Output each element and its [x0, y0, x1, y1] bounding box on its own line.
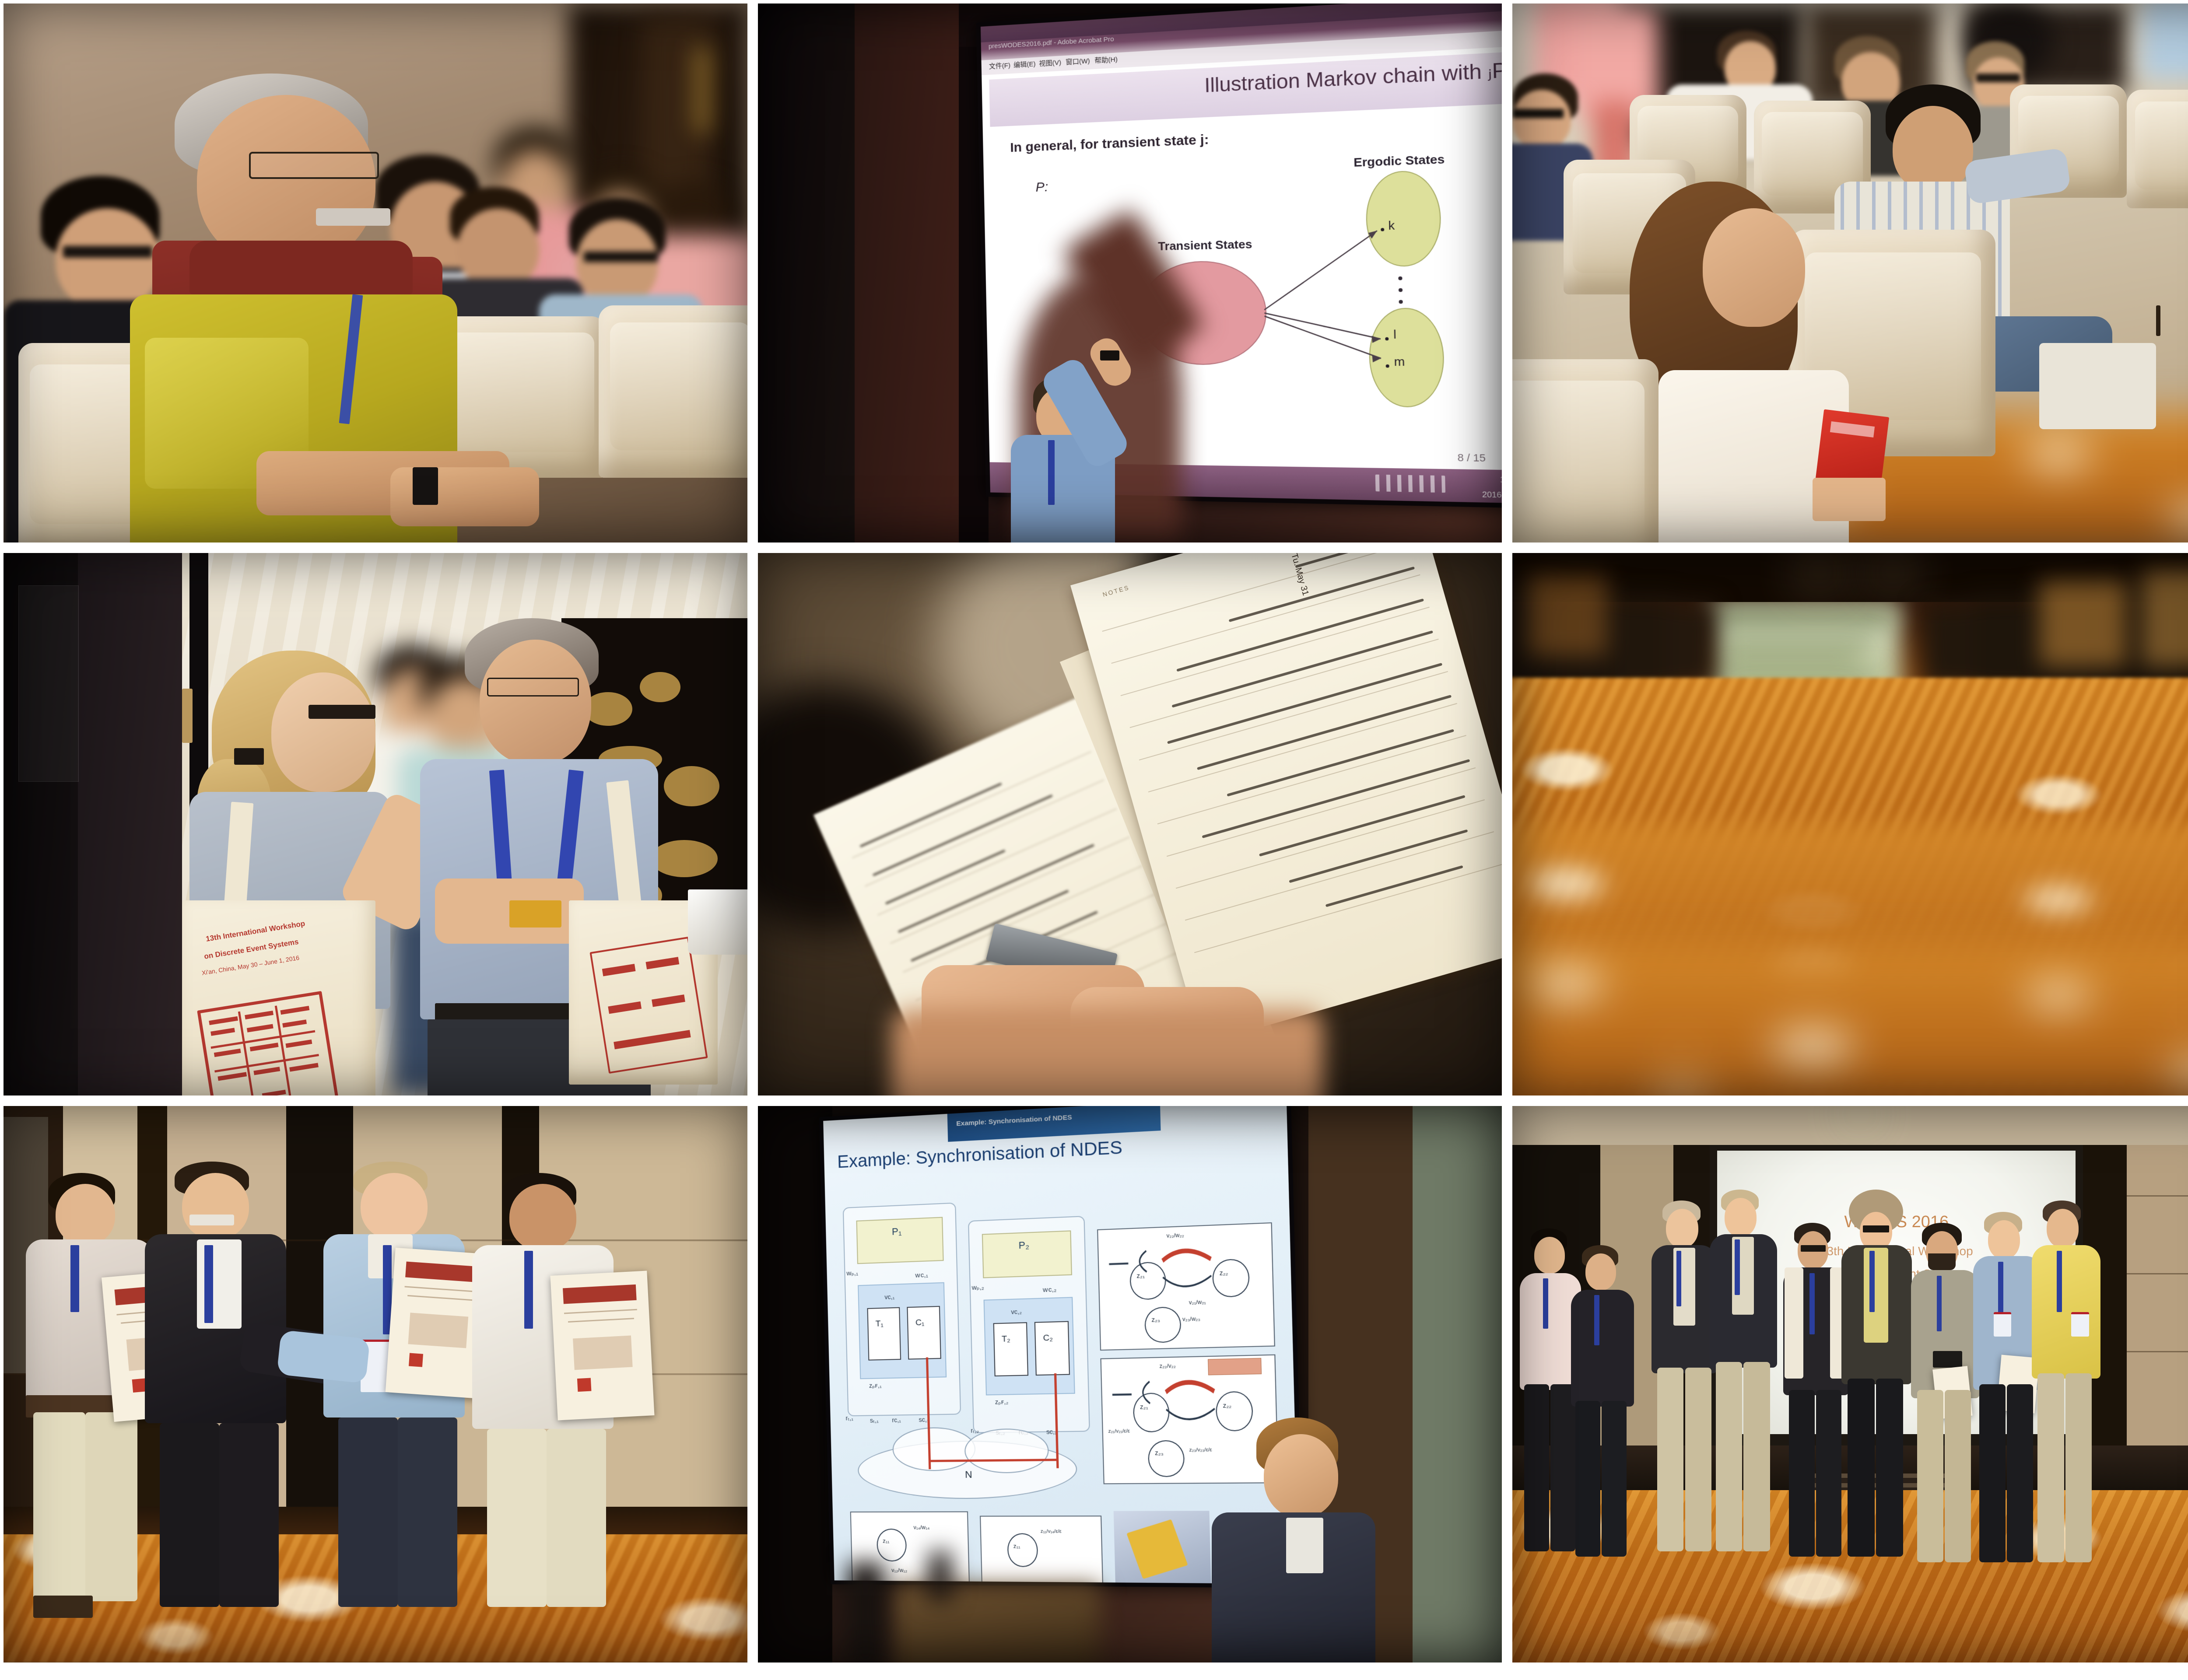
photo-panel-middle-center[interactable]: NOTES	[758, 553, 1502, 1095]
tote-seal-logo	[197, 991, 339, 1095]
block-t2-label: T₂	[1002, 1334, 1010, 1344]
taskbar-time: 16:05	[1500, 475, 1502, 485]
presentation-photo: presWODES2016.pdf - Adobe Acrobat Pro 文件…	[758, 3, 1502, 542]
signal-zpf1: zₚꜰ,₁	[869, 1382, 882, 1390]
signal-zpf2: zₚꜰ,₂	[995, 1398, 1009, 1406]
signal-wp1: wₚ,₁	[846, 1269, 858, 1277]
seated-attendees-photo	[1512, 3, 2188, 542]
signal-st1: sₜ,₁	[870, 1417, 879, 1424]
block-p2	[982, 1231, 1072, 1278]
tray-icons	[1375, 475, 1445, 493]
award-ceremony-photo	[4, 1106, 747, 1662]
conference-tote-bag: 13th International Workshop on Discrete …	[182, 900, 375, 1095]
paper-cup	[688, 889, 747, 955]
block-p1-label: P₁	[892, 1226, 902, 1238]
podium	[892, 1585, 1100, 1662]
photo-panel-bottom-right[interactable]: WODES 2016 13th International Workshop o…	[1512, 1106, 2188, 1662]
trans-label-c1: v₁₄/w₁₄	[913, 1524, 929, 1530]
audience-photo	[4, 3, 747, 542]
block-c2-label: C₂	[1043, 1333, 1053, 1344]
automaton-box-1: z₂₁ z₂₂ z₂₃ v₂₂/w₂₂ v₂₁/w₂₁	[1097, 1223, 1275, 1351]
signal-wc2: w с,₂	[1043, 1286, 1057, 1294]
block-p2-label: P₂	[1018, 1239, 1029, 1252]
pdf-page-indicator: 8 / 15	[1457, 452, 1486, 465]
trans-label-c2: v₁₂/w₁₂	[891, 1568, 907, 1574]
signal-rc1: rс,₁	[892, 1416, 901, 1423]
acrobat-menu-view[interactable]: 视图(V)	[1039, 58, 1061, 68]
certificate-3	[550, 1270, 654, 1420]
automaton-box-2: z₂₁ z₂₂ z₂₃ z₂₂/v₂₂ z₂₁/v₂₁	[1101, 1354, 1279, 1484]
photo-collage-grid: presWODES2016.pdf - Adobe Acrobat Pro 文件…	[0, 0, 2188, 1680]
signal-wc1: w с,₁	[915, 1271, 928, 1279]
photo-panel-middle-right[interactable]	[1512, 553, 2188, 1095]
acrobat-menu-edit[interactable]: 编辑(E)	[1013, 59, 1036, 70]
block-n-label: N	[965, 1469, 972, 1481]
signal-rt1: rₜ,₁	[845, 1415, 853, 1422]
photo-panel-middle-left[interactable]: 13th International Workshop on Discrete …	[4, 553, 747, 1095]
trans-label-d1: z₁₁/v₁₄/ε/ε	[1041, 1529, 1062, 1534]
automaton-box-4: z₁₁ z₁₁/v₁₄/ε/ε	[980, 1516, 1104, 1584]
trans-label-b1: z₂₂/v₂₂	[1159, 1363, 1175, 1369]
block-c1	[907, 1306, 942, 1360]
carpet-aisle-photo	[1512, 553, 2188, 1095]
block-t2	[993, 1322, 1028, 1376]
trans-label-a3: v₂₃/w₂₃	[1182, 1316, 1200, 1323]
trans-label-b3: z₂₃/v₂₃/ε/ε	[1189, 1448, 1212, 1453]
block-t1-label: T₁	[875, 1319, 884, 1330]
notebook-photo: NOTES	[758, 553, 1502, 1095]
trans-label-b2: z₂₁/v₂₁/ε/ε	[1108, 1428, 1130, 1434]
taskbar-date: 2016-05-30	[1482, 490, 1502, 500]
photo-panel-top-center[interactable]: presWODES2016.pdf - Adobe Acrobat Pro 文件…	[758, 3, 1502, 542]
photo-panel-top-right[interactable]	[1512, 3, 2188, 542]
photo-panel-bottom-center[interactable]: Example: Synchronisation of NDES Example…	[758, 1106, 1502, 1662]
block-c2	[1034, 1321, 1070, 1376]
signal-rt2: rₜ,₂	[971, 1427, 979, 1435]
signal-vc1: vс,₁	[884, 1293, 894, 1301]
trans-label-a1: v₂₂/w₂₂	[1166, 1232, 1184, 1239]
signal-vc2: vс,₂	[1011, 1308, 1022, 1316]
notebook-header: NOTES	[1102, 584, 1130, 598]
signal-wp2: wₚ,₂	[971, 1284, 984, 1292]
ndes-presentation-photo: Example: Synchronisation of NDES Example…	[758, 1106, 1502, 1662]
networking-photo: 13th International Workshop on Discrete …	[4, 553, 747, 1095]
block-t1	[867, 1307, 901, 1361]
closing-ceremony-photo: WODES 2016 13th International Workshop o…	[1512, 1106, 2188, 1662]
block-p1	[856, 1217, 943, 1264]
acrobat-menu-help[interactable]: 帮助(H)	[1094, 54, 1118, 65]
acrobat-menu-file[interactable]: 文件(F)	[989, 60, 1010, 71]
acrobat-menu-window[interactable]: 窗口(W)	[1066, 56, 1090, 66]
state-z11-a: z₁₁	[883, 1538, 890, 1544]
ndes-slide-title: Example: Synchronisation of NDES	[837, 1137, 1123, 1172]
photo-panel-top-left[interactable]	[4, 3, 747, 542]
state-z11-b: z₁₁	[1013, 1543, 1020, 1549]
programme-booklet	[1816, 409, 1890, 487]
notebook-date: Tu. May 31	[1289, 553, 1310, 597]
photo-panel-bottom-left[interactable]	[4, 1106, 747, 1662]
block-c1-label: C₁	[915, 1318, 925, 1328]
trans-label-a2: v₂₁/w₂₁	[1189, 1299, 1206, 1306]
